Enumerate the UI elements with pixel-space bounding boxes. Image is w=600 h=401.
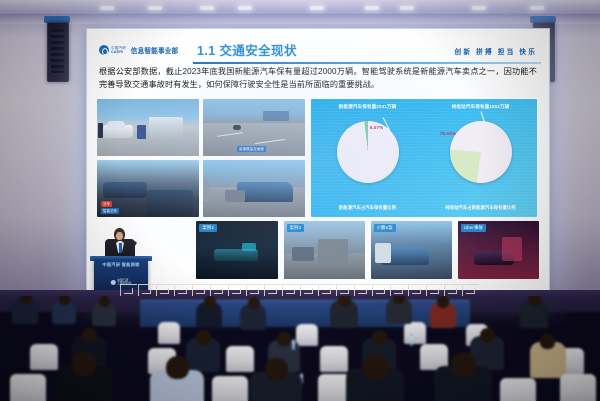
slide-body-text: 根据公安部数据，截止2023年底我国新能源汽车保有量超过2000万辆。智能驾驶系… (99, 65, 537, 91)
chair (30, 344, 58, 370)
audience-head (248, 297, 260, 309)
chair (560, 374, 596, 401)
audience-head (20, 296, 32, 304)
case-label-4: Uber事故 (461, 224, 486, 232)
chair (320, 346, 348, 372)
audience-head (437, 296, 449, 308)
photo3-red-badge: 泊车 (101, 201, 112, 207)
chart-1-title: 新能源汽车保有量2041万辆 (311, 104, 424, 110)
audience-head (204, 296, 216, 308)
case-thumb-2: 案例3 (284, 221, 365, 279)
chair (10, 374, 46, 401)
podium-banner-text: 中国汽研 智能网联 (94, 262, 148, 268)
audience-head (338, 296, 351, 306)
caeri-logo: 中国汽研 CAERI 信息智能事业部 (99, 45, 178, 55)
pie-chart-1 (337, 121, 399, 183)
audience-head (480, 328, 495, 343)
slide-title: 1.1 交通安全现状 (197, 40, 297, 59)
presenter-tie (119, 243, 122, 253)
slide-header: 中国汽研 CAERI 信息智能事业部 1.1 交通安全现状 创新 拼搏 担当 快… (87, 37, 549, 63)
presenter-face (116, 232, 123, 240)
case-label-3: 小鹏5案 (374, 224, 396, 232)
water-bottle (410, 336, 413, 346)
audience-head (393, 296, 405, 304)
photo3-blue-badge: 智能泊车 (101, 208, 119, 214)
chart-battery-electric-vehicles: 纯电动汽车保有量1552万辆 76.04% 纯电动汽车占新能源汽车保有量比例 (424, 99, 537, 217)
pie-2-label: 76.04% (440, 131, 456, 136)
conference-hall-scene: 中国汽研 CAERI 信息智能事业部 1.1 交通安全现状 创新 拼搏 担当 快… (0, 0, 600, 401)
audience-head (196, 330, 211, 345)
chair (226, 346, 254, 372)
accident-photo-2: 高速路监控画面 (203, 99, 305, 156)
audience-head (72, 352, 96, 376)
chair (158, 322, 180, 344)
audience-head (277, 332, 291, 346)
audience-head (528, 296, 541, 306)
podium-logo-icon (111, 280, 116, 285)
greek-key-frieze (120, 283, 480, 296)
audience-head (540, 334, 555, 349)
audience-head (265, 358, 288, 381)
chair (404, 322, 426, 344)
photo2-label: 高速路监控画面 (237, 146, 266, 152)
case-label-1: 案例2 (199, 224, 217, 232)
chair (296, 324, 318, 346)
audience-head (59, 296, 70, 305)
chart-1-caption: 新能源汽车占汽车保有量比例 (313, 205, 422, 211)
chart-2-caption: 纯电动汽车占新能源汽车保有量比例 (426, 205, 535, 211)
slide-slogan: 创新 拼搏 担当 快乐 (455, 46, 537, 56)
line-array-speaker-left (47, 22, 69, 82)
chart-2-title: 纯电动汽车保有量1552万辆 (424, 104, 537, 110)
case-label-2: 案例3 (287, 224, 305, 232)
pie-1-label: 6.07% (370, 125, 384, 130)
wall-light-band (0, 14, 600, 24)
chair (212, 376, 248, 401)
audience-head (82, 328, 97, 343)
pie-chart-2 (450, 121, 512, 183)
case-thumb-3: 小鹏5案 (371, 221, 452, 279)
case-thumb-1: 案例2 (196, 221, 277, 279)
audience-head (166, 356, 189, 379)
logo-department: 信息智能事业部 (131, 45, 179, 55)
audience-head (363, 354, 388, 379)
accident-photo-1 (97, 99, 199, 156)
chart-new-energy-vehicles: 新能源汽车保有量2041万辆 6.07% 新能源汽车占汽车保有量比例 (311, 99, 424, 217)
audience-head (372, 330, 387, 345)
logo-company-en: CAERI (111, 50, 126, 54)
case-thumb-4: Uber事故 (458, 221, 539, 279)
audience-head (99, 296, 110, 307)
logo-mark-icon (99, 45, 109, 55)
audience-head (451, 352, 476, 377)
statistics-chart-panel: 新能源汽车保有量2041万辆 6.07% 新能源汽车占汽车保有量比例 纯电动汽车… (311, 99, 537, 217)
accident-photo-3: 泊车 智能泊车 (97, 160, 199, 217)
title-divider (193, 62, 541, 64)
water-bottle (292, 340, 295, 350)
accident-photo-4 (203, 160, 305, 217)
chair (500, 378, 536, 401)
audience-area (0, 296, 600, 401)
accident-photo-grid: 高速路监控画面 泊车 智能泊车 (97, 99, 305, 217)
